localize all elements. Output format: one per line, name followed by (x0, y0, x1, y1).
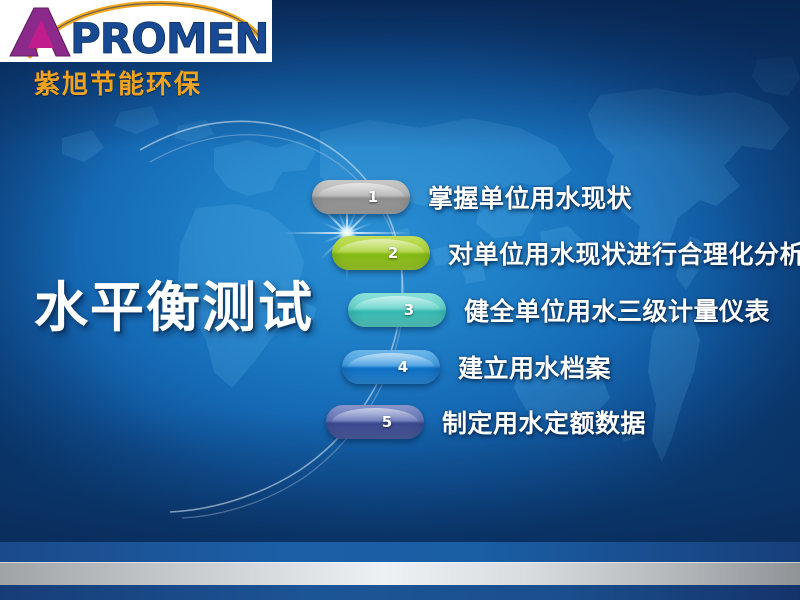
step-number-badge-4[interactable]: 4 (342, 350, 440, 384)
step-number-badge-3[interactable]: 3 (348, 293, 446, 327)
step-label-1: 掌握单位用水现状 (428, 179, 632, 215)
footer-bar-lower (0, 585, 800, 600)
step-item-2[interactable]: 2 对单位用水现状进行合理化分析 (332, 233, 800, 273)
step-label-2: 对单位用水现状进行合理化分析 (448, 235, 800, 271)
pill-gloss (348, 353, 434, 367)
step-list: 1 掌握单位用水现状 2 对单位用水现状进行合理化分析 3 健全单位用水三级计量… (0, 0, 800, 600)
step-number-3: 3 (404, 301, 414, 319)
presentation-slide: PROMEN 紫旭节能环保 水平衡测试 1 掌握单位用水现状 2 对单位用水现状… (0, 0, 800, 600)
step-number-5: 5 (382, 413, 392, 431)
pill-gloss (338, 239, 424, 253)
footer-bar-silver (0, 562, 800, 587)
step-number-badge-2[interactable]: 2 (332, 236, 430, 270)
step-item-5[interactable]: 5 制定用水定额数据 (326, 402, 646, 442)
step-item-3[interactable]: 3 健全单位用水三级计量仪表 (348, 290, 770, 330)
step-number-1: 1 (368, 188, 378, 206)
pill-gloss (318, 183, 404, 197)
step-label-3: 健全单位用水三级计量仪表 (464, 292, 770, 328)
pill-gloss (354, 296, 440, 310)
footer-bar-upper (0, 542, 800, 562)
step-item-1[interactable]: 1 掌握单位用水现状 (312, 177, 632, 217)
step-number-badge-5[interactable]: 5 (326, 405, 424, 439)
step-number-2: 2 (388, 244, 398, 262)
step-label-5: 制定用水定额数据 (442, 404, 646, 440)
step-number-4: 4 (398, 358, 408, 376)
step-item-4[interactable]: 4 建立用水档案 (342, 347, 611, 387)
pill-gloss (332, 408, 418, 422)
step-number-badge-1[interactable]: 1 (312, 180, 410, 214)
step-label-4: 建立用水档案 (458, 349, 611, 385)
